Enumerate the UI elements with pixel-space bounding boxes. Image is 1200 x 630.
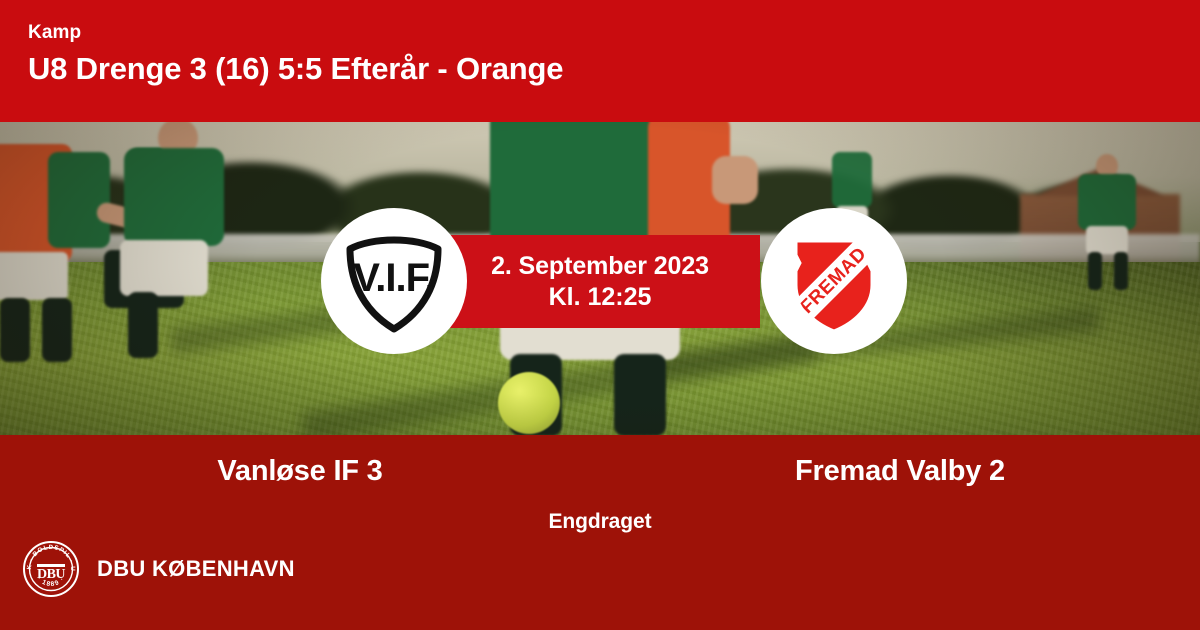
- venue-name: Engdraget: [0, 510, 1200, 534]
- page-title: U8 Drenge 3 (16) 5:5 Efterår - Orange: [28, 50, 1172, 88]
- home-club-badge[interactable]: V.I.F. V.I.F.: [321, 208, 467, 354]
- match-time: Kl. 12:25: [549, 282, 652, 313]
- dbu-seal-icon: DANSK · BOLDSPIL · UNION · 1889 · DBU: [22, 540, 80, 598]
- away-club-badge[interactable]: FREMAD FREMAD: [761, 208, 907, 354]
- header-bar: Kamp U8 Drenge 3 (16) 5:5 Efterår - Oran…: [0, 0, 1200, 122]
- svg-text:DBU: DBU: [37, 567, 65, 582]
- match-poster: Kamp U8 Drenge 3 (16) 5:5 Efterår - Oran…: [0, 0, 1200, 630]
- footer-bar: Vanløse IF 3 Fremad Valby 2 Engdraget: [0, 435, 1200, 630]
- fremad-shield-icon: FREMAD: [778, 225, 890, 337]
- match-datetime-banner: 2. September 2023 Kl. 12:25: [440, 235, 760, 328]
- organisation-name: DBU KØBENHAVN: [97, 556, 295, 582]
- team-names-row: Vanløse IF 3 Fremad Valby 2: [0, 452, 1200, 490]
- match-date: 2. September 2023: [491, 251, 709, 282]
- header-kicker: Kamp: [28, 22, 1172, 44]
- svg-text:V.I.F.: V.I.F.: [353, 256, 434, 300]
- away-team-name: Fremad Valby 2: [600, 452, 1200, 490]
- vanlose-shield-icon: V.I.F.: [338, 225, 450, 337]
- organisation-lockup[interactable]: DANSK · BOLDSPIL · UNION · 1889 · DBU DB…: [22, 540, 295, 598]
- home-team-name: Vanløse IF 3: [0, 452, 600, 490]
